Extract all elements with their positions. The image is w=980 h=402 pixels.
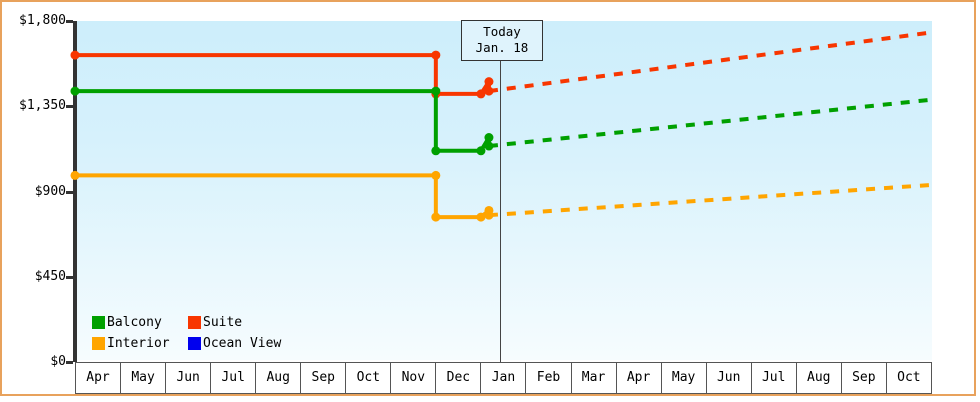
- y-tick-label: $450: [35, 270, 66, 283]
- legend-item-balcony[interactable]: Balcony: [92, 312, 188, 333]
- x-axis-month-cell: Aug: [797, 363, 842, 393]
- legend-label-suite: Suite: [203, 312, 242, 333]
- y-tick-mark: [66, 276, 73, 279]
- today-label-box: Today Jan. 18: [461, 20, 543, 61]
- x-axis-month-cell: Jun: [707, 363, 752, 393]
- x-axis-month-cell: Jul: [211, 363, 256, 393]
- x-axis-month-cell: Jul: [752, 363, 797, 393]
- x-axis-month-cell: Jan: [481, 363, 526, 393]
- y-tick-mark: [66, 105, 73, 108]
- x-axis-month-cell: Oct: [887, 363, 931, 393]
- legend-swatch-interior: [92, 337, 105, 350]
- x-axis: AprMayJunJulAugSepOctNovDecJanFebMarAprM…: [75, 362, 932, 394]
- legend-item-interior[interactable]: Interior: [92, 333, 188, 354]
- legend-label-ocean-view: Ocean View: [203, 333, 281, 354]
- x-axis-month-cell: May: [121, 363, 166, 393]
- x-axis-month-cell: Sep: [842, 363, 887, 393]
- x-axis-month-cell: Mar: [572, 363, 617, 393]
- x-axis-month-cell: Feb: [526, 363, 571, 393]
- legend-swatch-balcony: [92, 316, 105, 329]
- legend-label-interior: Interior: [107, 333, 170, 354]
- x-axis-month-cell: Aug: [256, 363, 301, 393]
- y-tick-mark: [66, 20, 73, 23]
- legend-row: Balcony Suite: [92, 312, 297, 333]
- legend-label-balcony: Balcony: [107, 312, 162, 333]
- x-axis-month-cell: Apr: [617, 363, 662, 393]
- x-axis-month-cell: May: [662, 363, 707, 393]
- today-label-line1: Today: [462, 24, 542, 40]
- x-axis-month-cell: Nov: [391, 363, 436, 393]
- price-history-chart: $1,800$1,350$900$450$0 Today Jan. 18 Bal…: [0, 0, 976, 396]
- legend-swatch-ocean-view: [188, 337, 201, 350]
- legend-item-ocean-view[interactable]: Ocean View: [188, 333, 281, 354]
- today-vertical-line: [500, 21, 501, 362]
- legend-item-suite[interactable]: Suite: [188, 312, 242, 333]
- plot-area: [75, 21, 932, 360]
- chart-legend: Balcony Suite Interior Ocean View: [92, 312, 297, 354]
- y-tick-label: $900: [35, 185, 66, 198]
- y-tick-label: $1,800: [19, 14, 66, 27]
- y-tick-label: $0: [50, 355, 66, 368]
- x-axis-month-cell: Sep: [301, 363, 346, 393]
- x-axis-month-cell: Apr: [76, 363, 121, 393]
- legend-row: Interior Ocean View: [92, 333, 297, 354]
- y-tick-mark: [66, 191, 73, 194]
- today-label-line2: Jan. 18: [462, 40, 542, 56]
- x-axis-month-cell: Dec: [436, 363, 481, 393]
- y-axis-line: [73, 21, 77, 362]
- x-axis-month-cell: Oct: [346, 363, 391, 393]
- y-tick-label: $1,350: [19, 99, 66, 112]
- y-tick-mark: [66, 361, 73, 364]
- legend-swatch-suite: [188, 316, 201, 329]
- y-axis: $1,800$1,350$900$450$0: [2, 2, 66, 402]
- x-axis-month-cell: Jun: [166, 363, 211, 393]
